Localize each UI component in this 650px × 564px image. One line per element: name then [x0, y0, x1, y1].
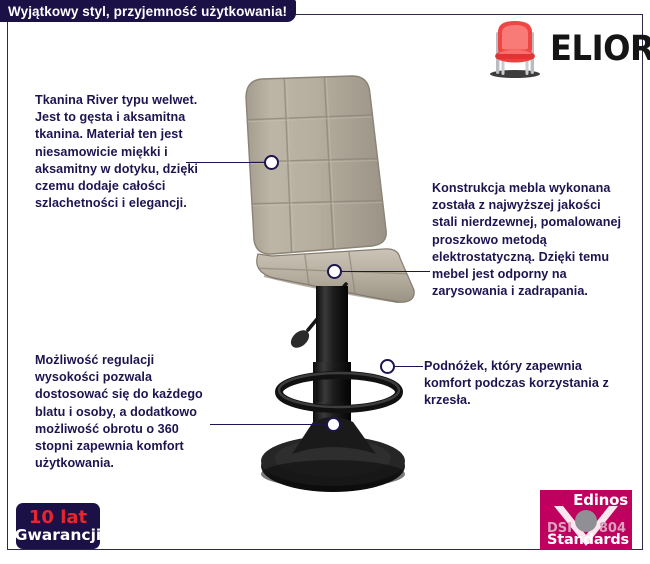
certification-title: Edinos	[540, 491, 628, 509]
callout-footrest: Podnóżek, który zapewnia komfort podczas…	[424, 358, 624, 410]
leader-line-height	[210, 424, 336, 425]
marker-fabric[interactable]	[264, 155, 279, 170]
callout-fabric-text: Tkanina River typu welwet. Jest to gęsta…	[35, 93, 198, 210]
headline-banner: Wyjątkowy styl, przyjemność użytkowania!	[0, 0, 296, 22]
marker-construction[interactable]	[327, 264, 342, 279]
brand-name: ELIOR	[550, 30, 650, 68]
certification-badge: Edinos DSI 804 Standards	[540, 490, 632, 550]
callout-construction: Konstrukcja mebla wykonana została z naj…	[432, 180, 622, 300]
brand-logo: ELIOR	[484, 18, 634, 80]
leader-line-fabric	[186, 162, 274, 163]
warranty-years: 10 lat	[29, 508, 87, 527]
callout-height-adjustment: Możliwość regulacji wysokości pozwala do…	[35, 352, 220, 472]
warranty-word: Gwarancji	[15, 527, 101, 544]
bar-stool-illustration	[200, 62, 440, 492]
headline-text: Wyjątkowy styl, przyjemność użytkowania!	[8, 4, 287, 19]
certification-subtitle: Standards	[540, 532, 629, 548]
infographic-canvas: Wyjątkowy styl, przyjemność użytkowania!…	[0, 0, 650, 564]
red-chair-icon	[484, 18, 546, 80]
callout-fabric: Tkanina River typu welwet. Jest to gęsta…	[35, 92, 200, 212]
marker-footrest[interactable]	[380, 359, 395, 374]
callout-footrest-text: Podnóżek, który zapewnia komfort podczas…	[424, 359, 609, 407]
callout-height-text: Możliwość regulacji wysokości pozwala do…	[35, 353, 203, 470]
callout-construction-text: Konstrukcja mebla wykonana została z naj…	[432, 181, 621, 298]
marker-height[interactable]	[326, 417, 341, 432]
warranty-badge: 10 lat Gwarancji	[16, 503, 100, 549]
leader-line-construction	[334, 271, 430, 272]
